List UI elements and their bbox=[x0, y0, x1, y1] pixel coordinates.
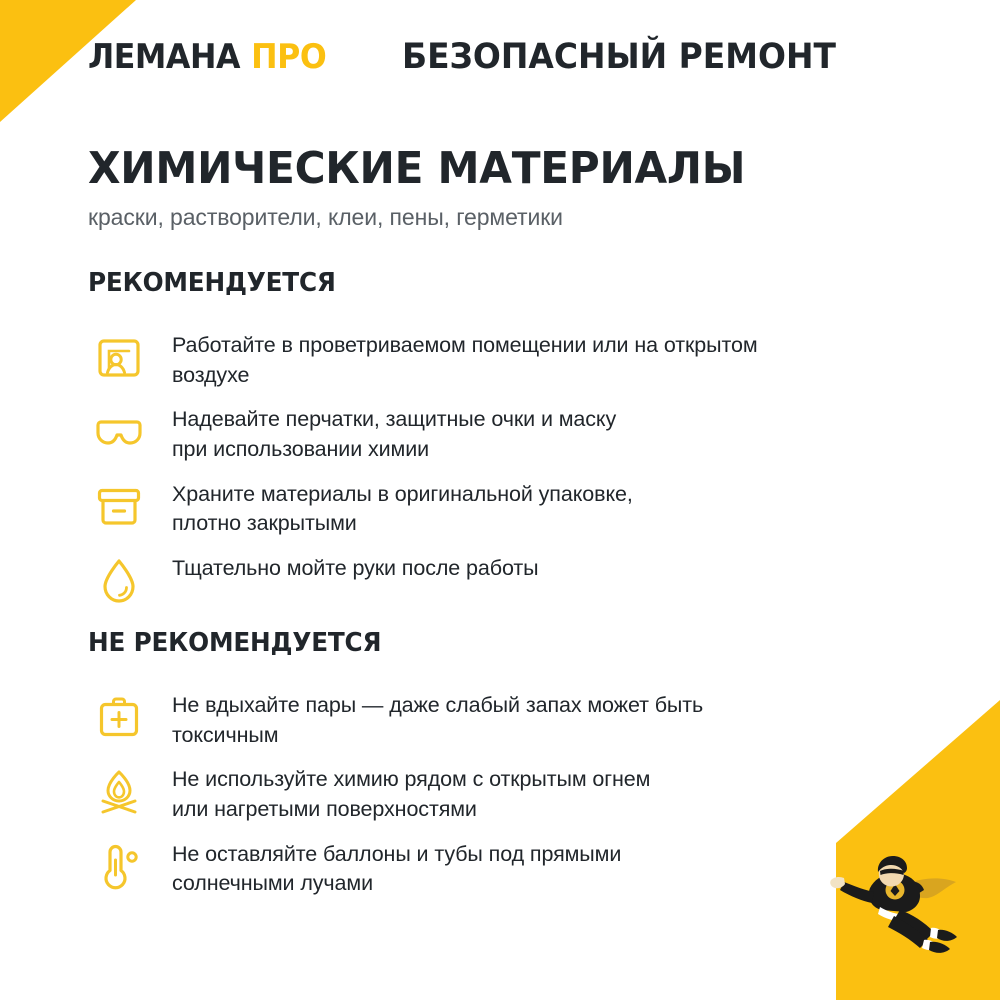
poster-canvas: ЛЕМАНА ПРО БЕЗОПАСНЫЙ РЕМОНТ ХИМИЧЕСКИЕ … bbox=[0, 0, 1000, 1000]
list-item-text: Не используйте химию рядом с открытым ог… bbox=[172, 762, 650, 824]
list-item: Тщательно мойте руки после работы bbox=[88, 551, 890, 609]
list-item: Работайте в проветриваемом помещении или… bbox=[88, 328, 890, 390]
list-item-text: Не оставляйте баллоны и тубы под прямыми… bbox=[172, 837, 621, 899]
recommended-list: Работайте в проветриваемом помещении или… bbox=[88, 328, 890, 609]
water-droplet-icon bbox=[88, 551, 150, 609]
list-item: Не оставляйте баллоны и тубы под прямыми… bbox=[88, 837, 890, 899]
list-item: Не используйте химию рядом с открытым ог… bbox=[88, 762, 890, 824]
brand-logo: ЛЕМАНА ПРО bbox=[88, 40, 326, 74]
list-item: Храните материалы в оригинальной упаковк… bbox=[88, 477, 890, 539]
section-not-recommended: НЕ РЕКОМЕНДУЕТСЯ Не вдыхайте пары — даже… bbox=[88, 628, 890, 911]
list-item-text: Храните материалы в оригинальной упаковк… bbox=[172, 477, 633, 539]
thermometer-sun-icon bbox=[88, 837, 150, 895]
list-item: Не вдыхайте пары — даже слабый запах мож… bbox=[88, 688, 890, 750]
title-block: ХИМИЧЕСКИЕ МАТЕРИАЛЫ краски, растворител… bbox=[88, 146, 880, 231]
section-recommended: РЕКОМЕНДУЕТСЯ Работайте в проветриваемом… bbox=[88, 268, 890, 609]
flying-superhero-mascot bbox=[810, 838, 980, 958]
campfire-flame-icon bbox=[88, 762, 150, 820]
brand-logo-accent: ПРО bbox=[251, 40, 326, 74]
brand-logo-main: ЛЕМАНА bbox=[88, 40, 240, 74]
storage-box-icon bbox=[88, 477, 150, 535]
list-item-text: Надевайте перчатки, защитные очки и маск… bbox=[172, 402, 616, 464]
list-item-text: Работайте в проветриваемом помещении или… bbox=[172, 328, 758, 390]
not-recommended-list: Не вдыхайте пары — даже слабый запах мож… bbox=[88, 688, 890, 899]
campaign-title: БЕЗОПАСНЫЙ РЕМОНТ bbox=[402, 40, 836, 75]
page-title: ХИМИЧЕСКИЕ МАТЕРИАЛЫ bbox=[88, 146, 848, 192]
list-item-text: Не вдыхайте пары — даже слабый запах мож… bbox=[172, 688, 703, 750]
page-subtitle: краски, растворители, клеи, пены, гермет… bbox=[88, 204, 880, 232]
safety-goggles-icon bbox=[88, 402, 150, 460]
poster-header: ЛЕМАНА ПРО БЕЗОПАСНЫЙ РЕМОНТ bbox=[88, 40, 864, 75]
section-heading-not-recommended: НЕ РЕКОМЕНДУЕТСЯ bbox=[88, 628, 850, 658]
list-item-text: Тщательно мойте руки после работы bbox=[172, 551, 538, 584]
first-aid-kit-icon bbox=[88, 688, 150, 746]
section-heading-recommended: РЕКОМЕНДУЕТСЯ bbox=[88, 268, 850, 298]
list-item: Надевайте перчатки, защитные очки и маск… bbox=[88, 402, 890, 464]
ventilated-room-icon bbox=[88, 328, 150, 386]
